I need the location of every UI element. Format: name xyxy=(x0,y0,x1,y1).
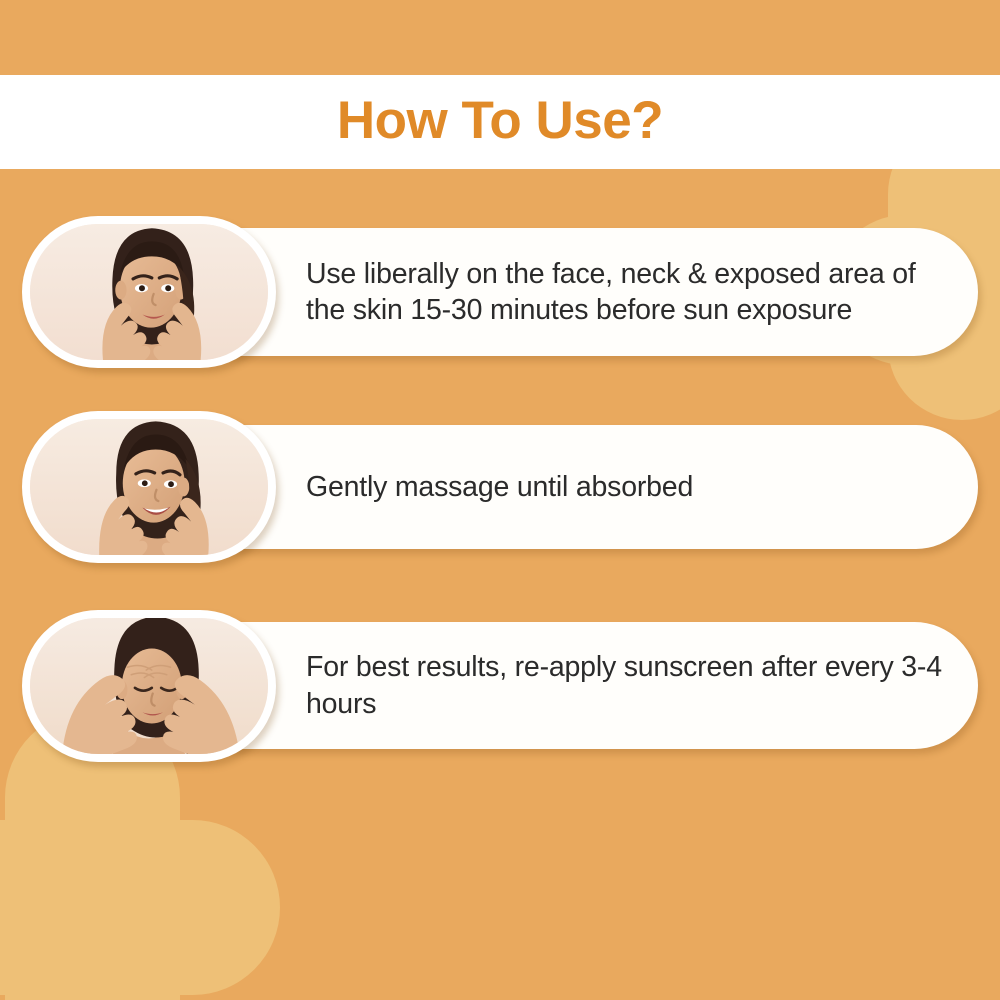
woman-applying-cream-to-cheeks-photo xyxy=(30,224,268,360)
step-card: For best results, re-apply sunscreen aft… xyxy=(178,622,978,749)
how-to-use-infographic: How To Use? Use liberally on the face, n… xyxy=(0,0,1000,1000)
step-text: For best results, re-apply sunscreen aft… xyxy=(178,649,978,722)
woman-applying-cream-to-forehead-photo xyxy=(30,618,268,754)
decoration-horizontal-bar xyxy=(0,820,280,995)
step-card: Gently massage until absorbed xyxy=(178,425,978,549)
step-row: Gently massage until absorbed xyxy=(0,425,1000,549)
step-thumbnail xyxy=(22,216,276,368)
header-band: How To Use? xyxy=(0,75,1000,169)
step-row: Use liberally on the face, neck & expose… xyxy=(0,228,1000,356)
page-title: How To Use? xyxy=(337,94,663,151)
woman-massaging-face-smiling-photo xyxy=(30,419,268,555)
step-card: Use liberally on the face, neck & expose… xyxy=(178,228,978,356)
step-thumbnail xyxy=(22,610,276,762)
step-text: Use liberally on the face, neck & expose… xyxy=(178,256,978,329)
step-thumbnail xyxy=(22,411,276,563)
step-row: For best results, re-apply sunscreen aft… xyxy=(0,622,1000,749)
